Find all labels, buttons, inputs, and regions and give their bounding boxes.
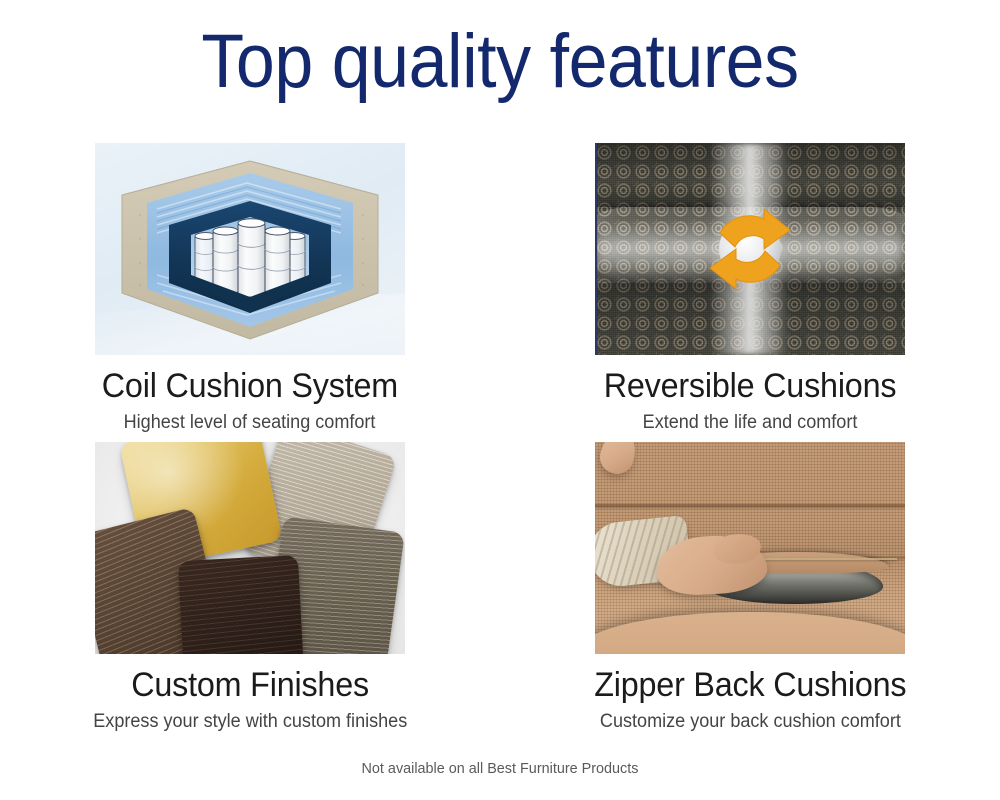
feature-title: Zipper Back Cushions — [594, 665, 906, 705]
feature-highlights-page: Top quality features — [0, 0, 1000, 800]
feature-subtitle: Express your style with custom finishes — [93, 710, 407, 734]
feature-grid: Coil Cushion System Highest level of sea… — [0, 143, 1000, 734]
feature-card-custom-finishes[interactable]: Custom Finishes Express your style with … — [0, 442, 500, 734]
upper-seam — [595, 504, 905, 507]
feature-title: Custom Finishes — [131, 665, 369, 705]
page-title: Top quality features — [40, 14, 960, 110]
feature-title: Coil Cushion System — [102, 366, 398, 406]
feature-card-zipper-back-cushions[interactable]: Zipper Back Cushions Customize your back… — [500, 442, 1000, 734]
feature-subtitle: Highest level of seating comfort — [124, 411, 376, 435]
disclaimer-note: Not available on all Best Furniture Prod… — [20, 760, 980, 777]
feature-subtitle: Extend the life and comfort — [643, 411, 858, 435]
reverse-arrows-icon — [690, 189, 810, 309]
feature-card-reversible-cushions[interactable]: Reversible Cushions Extend the life and … — [500, 143, 1000, 435]
feature-card-coil-cushion-system[interactable]: Coil Cushion System Highest level of sea… — [0, 143, 500, 435]
photo-left-border — [595, 143, 597, 355]
feature-title: Reversible Cushions — [604, 366, 897, 406]
reversible-cushion-sofa-photo — [595, 143, 905, 355]
wood-finish-swatch-fan-photo — [95, 442, 405, 654]
swatch-grain — [178, 555, 304, 654]
coil-cutaway-svg — [95, 143, 405, 355]
feature-row-bottom: Custom Finishes Express your style with … — [0, 442, 1000, 734]
feature-row-top: Coil Cushion System Highest level of sea… — [0, 143, 1000, 435]
zipper-back-cushion-photo — [595, 442, 905, 654]
feature-subtitle: Customize your back cushion comfort — [600, 710, 901, 734]
swatch-dark-espresso — [178, 555, 304, 654]
coil-cushion-cutaway-illustration — [95, 143, 405, 355]
